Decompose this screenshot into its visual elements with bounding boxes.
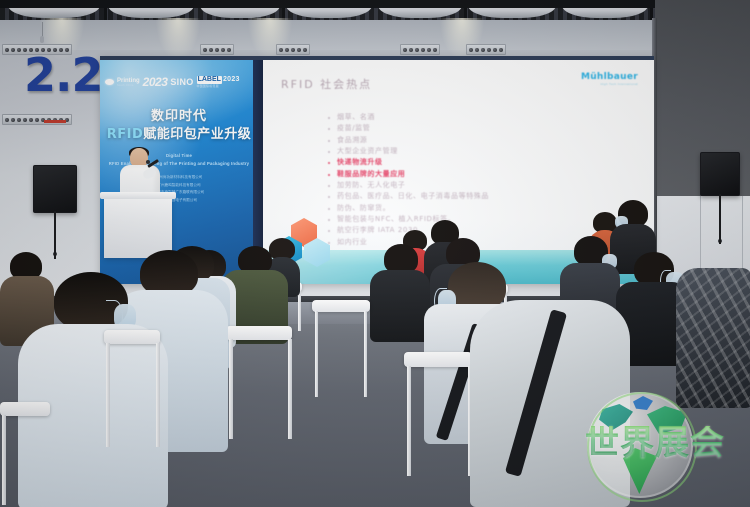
chair-front bbox=[226, 326, 296, 446]
microphone-head-icon bbox=[146, 160, 150, 164]
chair-leg bbox=[106, 343, 110, 447]
watermark-text: 世界展会 bbox=[572, 426, 738, 460]
slide-bullet-item: 药包品、医疗品、日化、电子消毒品等特殊品 bbox=[337, 191, 654, 202]
wall-outlet-bank bbox=[466, 44, 506, 55]
ceiling-hanger-fitting bbox=[40, 36, 44, 43]
vendor-logo-tagline: High Tech International bbox=[581, 82, 638, 86]
chair-back bbox=[404, 352, 472, 367]
chair-leg bbox=[156, 343, 160, 447]
pa-speaker-right bbox=[700, 152, 740, 247]
ceiling-dark-edge bbox=[0, 0, 750, 8]
banner-title-rfid: RFID bbox=[107, 127, 144, 142]
person-torso bbox=[370, 270, 430, 342]
lectern-top bbox=[100, 192, 176, 199]
spotlight-wash bbox=[156, 18, 200, 60]
event-logo-row: Printing South China 2023 SINO LABEL 202… bbox=[105, 76, 255, 88]
chair-leg bbox=[315, 311, 318, 397]
printing-logo-icon bbox=[105, 79, 114, 85]
banner-title-block: 数印时代 RFID赋能印包产业升级 bbox=[100, 108, 258, 143]
chair-front bbox=[104, 330, 164, 450]
pa-speaker-stand bbox=[719, 194, 721, 244]
wall-upper-band bbox=[0, 20, 672, 50]
printing-logo-sub: South China bbox=[117, 84, 140, 87]
slide-bullet-item: 鞋服品牌的大量应用 bbox=[337, 169, 654, 180]
chair-back bbox=[0, 402, 50, 416]
pa-speaker-left bbox=[33, 165, 77, 260]
pa-speaker-stand bbox=[54, 211, 56, 259]
chair-leg bbox=[229, 339, 233, 439]
screen-top-edge bbox=[100, 56, 654, 60]
chair-leg bbox=[364, 311, 367, 397]
chair-leg bbox=[407, 366, 411, 476]
chair-back bbox=[312, 300, 370, 312]
sinolabel-logo-name: SINO bbox=[170, 78, 193, 87]
chair-front bbox=[404, 352, 476, 482]
printing-logo-year: 2023 bbox=[143, 76, 168, 88]
sinolabel-logo-sub: 中国国际标签展 bbox=[197, 84, 240, 88]
chair-leg bbox=[288, 339, 292, 439]
wall-outlet-bank bbox=[276, 44, 310, 55]
slide-bullet-item: 疫苗/监管 bbox=[337, 123, 654, 134]
watermark-logo: 世界展会 bbox=[572, 392, 738, 500]
banner-title-rest: 赋能印包产业升级 bbox=[143, 127, 251, 142]
banner-title-line1: 数印时代 bbox=[100, 108, 258, 126]
vendor-logo-name: Mühlbauer bbox=[581, 72, 638, 82]
slide-bullet-item: 快递物流升级 bbox=[337, 157, 654, 168]
pa-speaker-cabinet bbox=[700, 152, 740, 196]
slide-bullet-item: 加劳防、无人化电子 bbox=[337, 180, 654, 191]
wall-outlet-bank bbox=[200, 44, 234, 55]
vendor-logo: Mühlbauer High Tech International bbox=[581, 72, 638, 86]
sinolabel-logo-label: LABEL bbox=[197, 76, 222, 84]
sinolabel-logo-year: 2023 bbox=[223, 76, 240, 83]
person-torso bbox=[676, 268, 750, 408]
slide-title: RFID 社会热点 bbox=[281, 76, 372, 92]
conference-room-photo: 2.2 Printing South China 2023 SINO LABEL… bbox=[0, 0, 750, 507]
slide-bullet-item: 烟草、名酒 bbox=[337, 112, 654, 123]
chair-front bbox=[0, 402, 52, 507]
chair-leg bbox=[298, 291, 301, 331]
slide-bullet-item: 大型企业资产管理 bbox=[337, 146, 654, 157]
slide-bullet-item: 食品溯源 bbox=[337, 135, 654, 146]
wall-outlet-bank bbox=[400, 44, 440, 55]
pa-speaker-cabinet bbox=[33, 165, 77, 213]
chair-back bbox=[104, 330, 160, 344]
chair-front bbox=[312, 300, 374, 404]
printing-logo-name: Printing bbox=[117, 78, 140, 84]
banner-title-line2: RFID赋能印包产业升级 bbox=[100, 126, 258, 144]
chair-back bbox=[226, 326, 292, 340]
audience-person-patterned-jacket bbox=[676, 268, 750, 408]
chair-leg bbox=[2, 415, 6, 505]
audience-person bbox=[370, 244, 430, 340]
hall-number-sign: 2.2 bbox=[24, 52, 103, 98]
wall-red-marker bbox=[44, 120, 66, 123]
